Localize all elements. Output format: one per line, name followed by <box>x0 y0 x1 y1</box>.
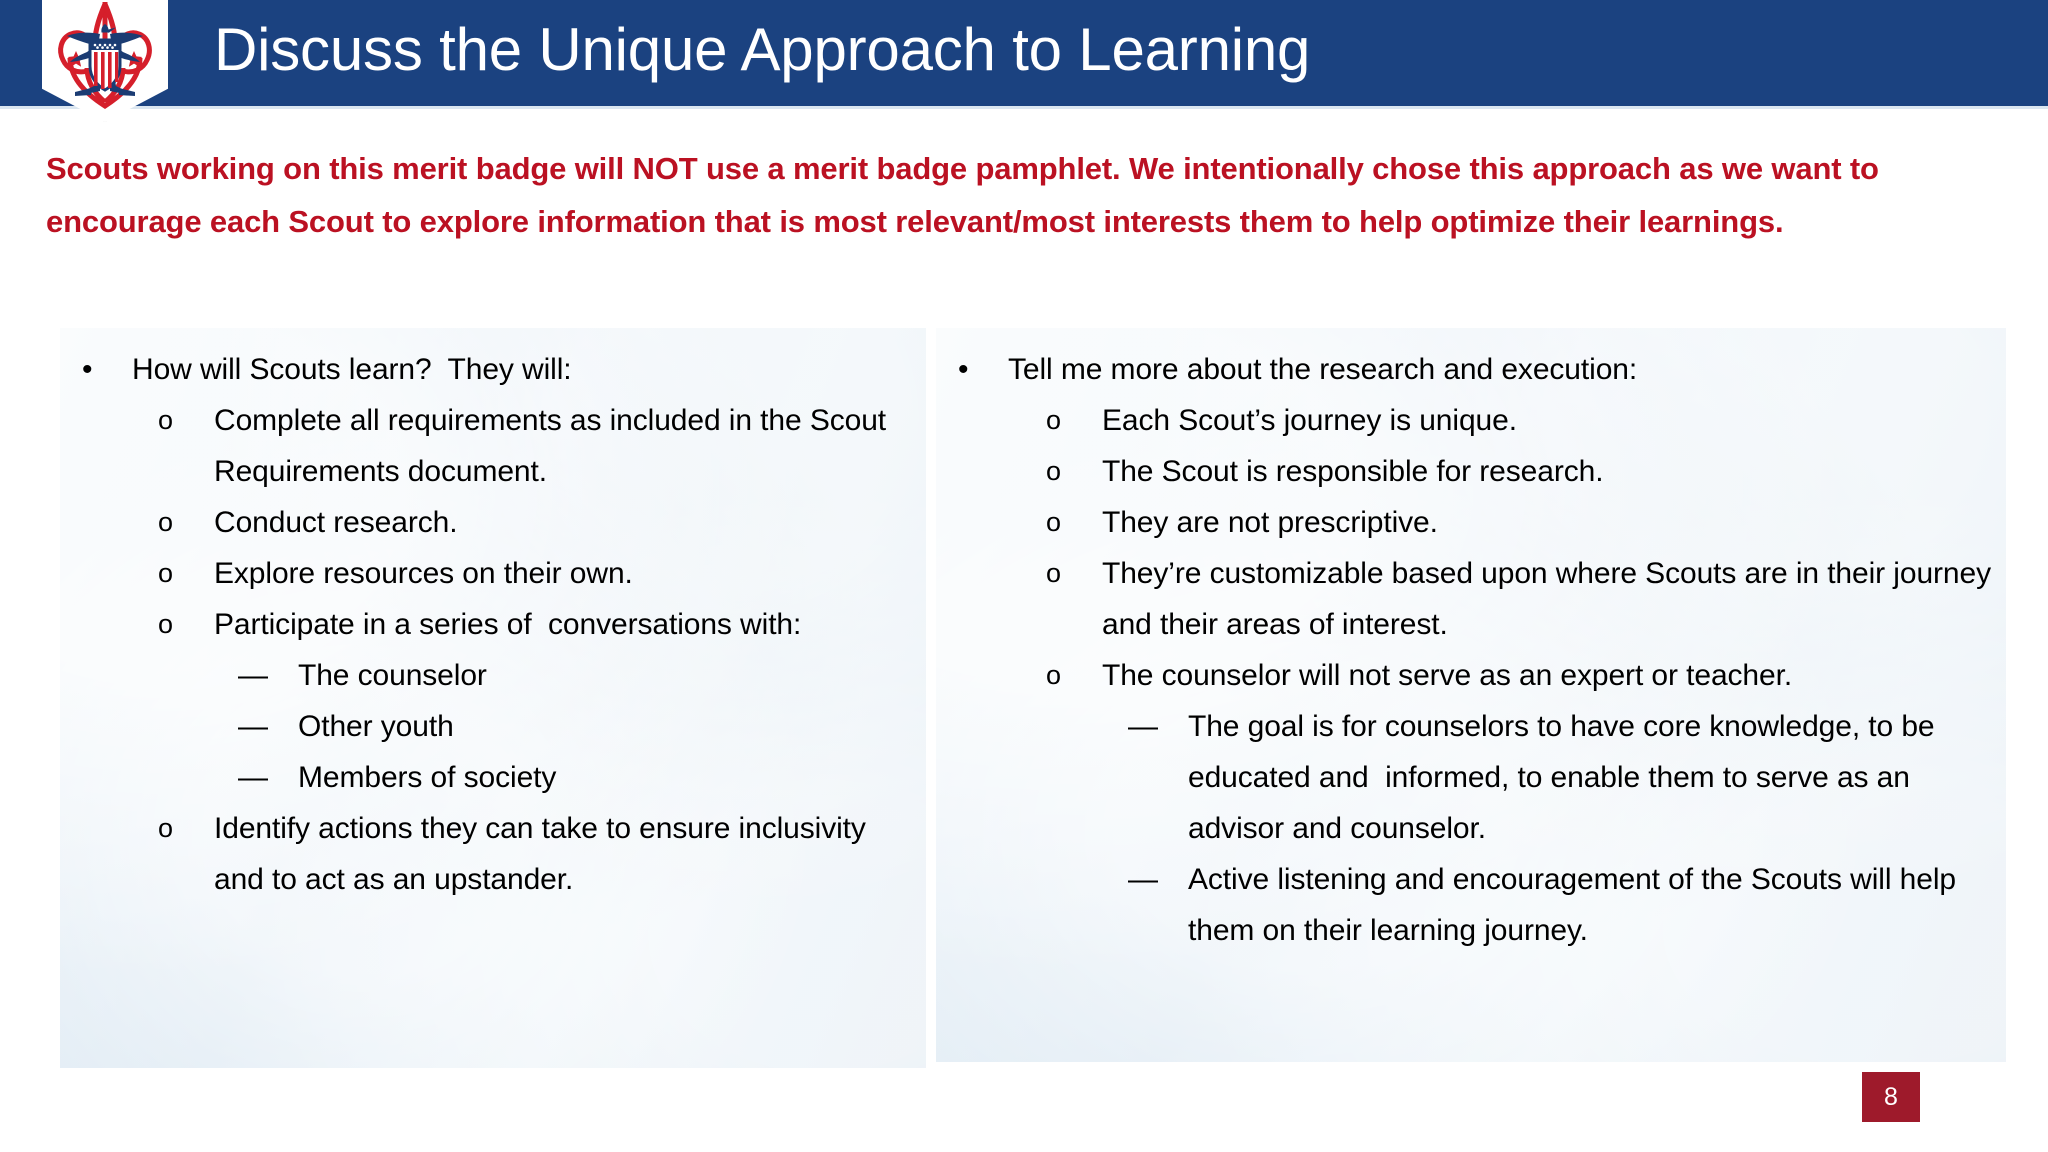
list-item-text: Participate in a series of conversations… <box>214 599 916 650</box>
list-item: oThey are not prescriptive. <box>946 497 1996 548</box>
list-item-text: Members of society <box>298 752 916 803</box>
list-item: oThe Scout is responsible for research. <box>946 446 1996 497</box>
list-item-text: They’re customizable based upon where Sc… <box>1102 548 1996 650</box>
list-item-text: Explore resources on their own. <box>214 548 916 599</box>
list-item: oEach Scout’s journey is unique. <box>946 395 1996 446</box>
left-panel-list: •How will Scouts learn? They will:oCompl… <box>60 328 926 905</box>
list-bullet-icon: • <box>82 344 92 395</box>
list-item-text: They are not prescriptive. <box>1102 497 1996 548</box>
intro-paragraph: Scouts working on this merit badge will … <box>46 142 2006 248</box>
list-item-text: The counselor will not serve as an exper… <box>1102 650 1996 701</box>
list-bullet-icon: — <box>238 752 268 803</box>
list-bullet-icon: o <box>1046 548 1061 599</box>
list-bullet-icon: — <box>1128 854 1158 905</box>
list-bullet-icon: o <box>1046 446 1061 497</box>
list-item: •How will Scouts learn? They will: <box>70 344 916 395</box>
list-item: oIdentify actions they can take to ensur… <box>70 803 916 905</box>
list-item: oConduct research. <box>70 497 916 548</box>
list-bullet-icon: o <box>158 803 173 854</box>
list-item-text: Tell me more about the research and exec… <box>1008 344 1996 395</box>
list-item: —The goal is for counselors to have core… <box>946 701 1996 854</box>
list-item: —Other youth <box>70 701 916 752</box>
slide-number-badge: 8 <box>1862 1072 1920 1122</box>
list-item: oParticipate in a series of conversation… <box>70 599 916 650</box>
list-bullet-icon: • <box>958 344 968 395</box>
list-bullet-icon: o <box>158 548 173 599</box>
list-item: oThey’re customizable based upon where S… <box>946 548 1996 650</box>
list-item: —Active listening and encouragement of t… <box>946 854 1996 956</box>
list-item: oExplore resources on their own. <box>70 548 916 599</box>
list-item: oThe counselor will not serve as an expe… <box>946 650 1996 701</box>
bsa-emblem-icon <box>50 0 160 114</box>
list-bullet-icon: o <box>158 599 173 650</box>
right-panel-list: •Tell me more about the research and exe… <box>936 328 2006 956</box>
list-bullet-icon: o <box>1046 497 1061 548</box>
list-bullet-icon: — <box>238 701 268 752</box>
left-content-panel: •How will Scouts learn? They will:oCompl… <box>60 328 926 1068</box>
list-item-text: The counselor <box>298 650 916 701</box>
list-item: —The counselor <box>70 650 916 701</box>
list-item-text: The Scout is responsible for research. <box>1102 446 1996 497</box>
list-item-text: Active listening and encouragement of th… <box>1188 854 1996 956</box>
right-content-panel: •Tell me more about the research and exe… <box>936 328 2006 1062</box>
page-title: Discuss the Unique Approach to Learning <box>214 0 1310 106</box>
list-item-text: Complete all requirements as included in… <box>214 395 916 497</box>
list-item-text: How will Scouts learn? They will: <box>132 344 916 395</box>
list-item-text: Conduct research. <box>214 497 916 548</box>
title-bar-underline <box>0 106 2048 109</box>
list-item: •Tell me more about the research and exe… <box>946 344 1996 395</box>
list-bullet-icon: o <box>1046 395 1061 446</box>
list-item-text: The goal is for counselors to have core … <box>1188 701 1996 854</box>
list-item: oComplete all requirements as included i… <box>70 395 916 497</box>
list-bullet-icon: o <box>1046 650 1061 701</box>
list-item-text: Other youth <box>298 701 916 752</box>
list-bullet-icon: — <box>1128 701 1158 752</box>
list-item-text: Identify actions they can take to ensure… <box>214 803 916 905</box>
list-bullet-icon: o <box>158 395 173 446</box>
list-item-text: Each Scout’s journey is unique. <box>1102 395 1996 446</box>
list-item: —Members of society <box>70 752 916 803</box>
list-bullet-icon: o <box>158 497 173 548</box>
list-bullet-icon: — <box>238 650 268 701</box>
